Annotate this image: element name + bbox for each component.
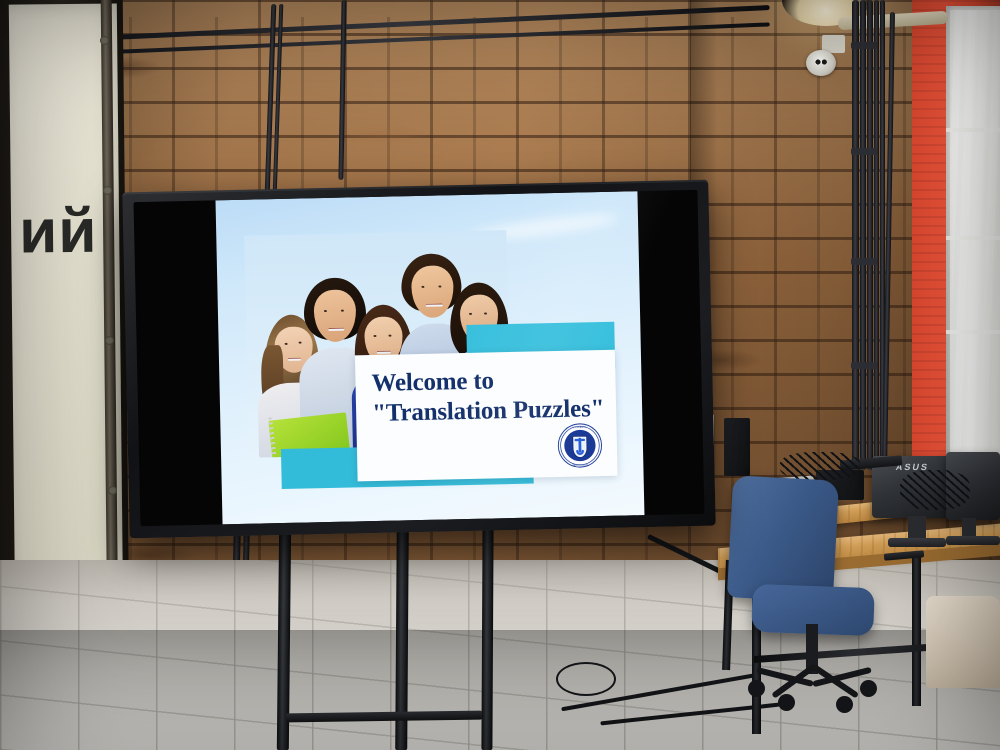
cable-conduit — [874, 0, 879, 470]
chair-caster — [836, 696, 853, 713]
university-seal-icon: UNIVERSITY TRANSLATION — [556, 422, 603, 469]
window-mullion — [946, 236, 1000, 240]
chair-caster — [778, 694, 795, 711]
presentation-slide: Welcome to "Translation Puzzles" UNIVERS… — [215, 191, 644, 524]
classroom-photo: ий ASUS — [0, 0, 1000, 750]
window-curtain — [950, 10, 1000, 460]
cable-tangle — [900, 470, 970, 510]
slide-title: Welcome to "Translation Puzzles" — [371, 364, 616, 428]
monitor-base — [946, 536, 1000, 545]
slide-title-line-1: Welcome to — [371, 367, 494, 397]
presentation-display[interactable]: Welcome to "Translation Puzzles" UNIVERS… — [122, 180, 715, 539]
chair-base — [756, 662, 874, 692]
cable-clamp — [851, 362, 877, 369]
speaker — [724, 418, 750, 476]
window-mullion — [946, 330, 1000, 334]
cable-tangle — [780, 452, 860, 480]
banner-grommet — [105, 336, 114, 345]
monitor-base — [888, 538, 946, 547]
title-card: Welcome to "Translation Puzzles" UNIVERS… — [355, 350, 618, 482]
cable-clamp — [851, 42, 877, 49]
desk-leg — [912, 556, 921, 706]
banner-grommet — [103, 186, 112, 195]
window-mullion — [946, 128, 1000, 132]
tv-stand-pole-right — [481, 524, 493, 750]
cable-clamp — [851, 148, 877, 155]
floor-cable-loop — [556, 662, 616, 696]
cable-conduit — [852, 0, 859, 470]
svg-text:UNIVERSITY: UNIVERSITY — [573, 427, 587, 429]
office-chair-back[interactable] — [727, 475, 839, 602]
banner-grommet — [108, 486, 117, 495]
cable-conduit — [867, 0, 873, 470]
banner-grommet — [100, 36, 109, 45]
chair-caster — [748, 680, 765, 697]
motion-sensor — [806, 50, 836, 76]
chair-caster — [860, 680, 877, 697]
cable-conduit — [860, 0, 866, 470]
storage-bag — [926, 596, 1000, 688]
cable-clamp — [851, 258, 877, 265]
tv-screen: Welcome to "Translation Puzzles" UNIVERS… — [134, 190, 705, 526]
